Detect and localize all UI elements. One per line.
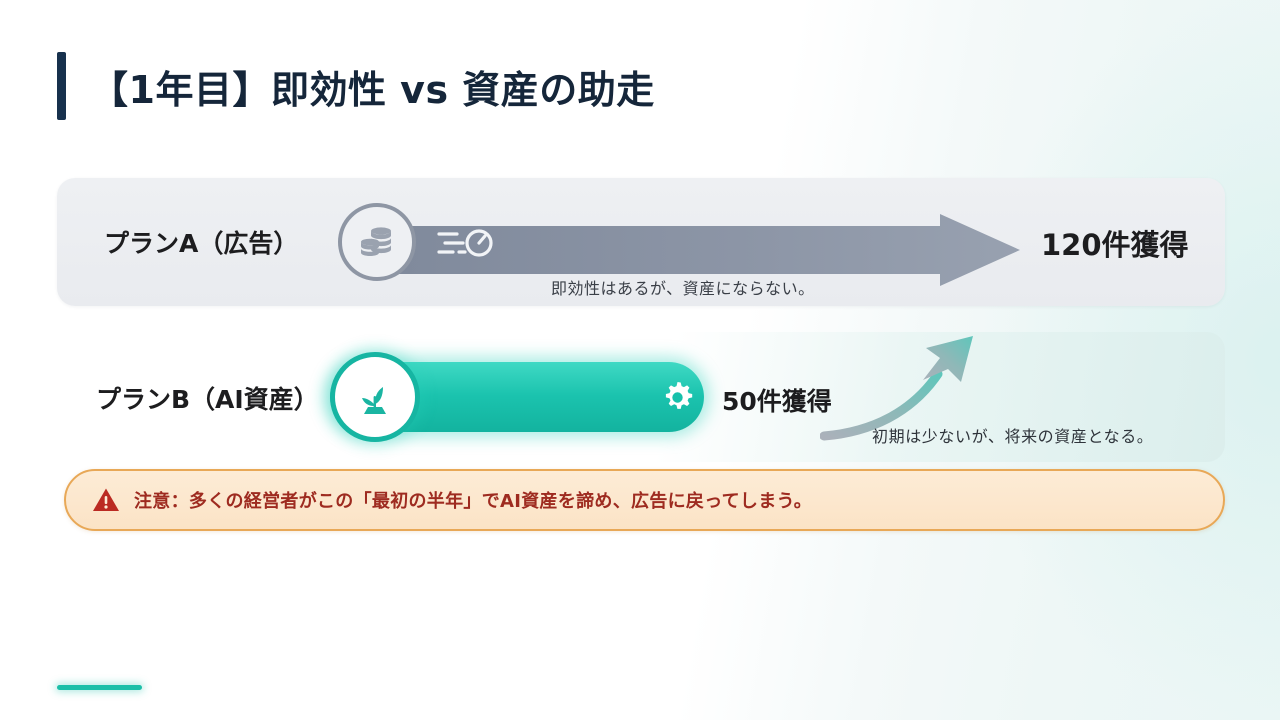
- coin-stack-icon: [338, 203, 416, 281]
- warning-text: 注意：多くの経営者がこの「最初の半年」でAI資産を諦め、広告に戻ってしまう。: [134, 487, 812, 513]
- plan-a-label: プランA（広告）: [104, 224, 298, 260]
- title-text: 【1年目】即効性 vs 資産の助走: [90, 59, 655, 114]
- plan-b-label: プランB（AI資産）: [96, 380, 319, 416]
- warning-triangle-icon: [92, 487, 120, 513]
- gear-icon: [659, 379, 696, 416]
- slide-canvas: 【1年目】即効性 vs 資産の助走 プランA（広告）: [0, 0, 1280, 720]
- warning-banner: 注意：多くの経営者がこの「最初の半年」でAI資産を諦め、広告に戻ってしまう。: [64, 469, 1225, 531]
- footer-accent-bar: [57, 685, 142, 690]
- plan-b-caption: 初期は少ないが、将来の資産となる。: [872, 423, 1153, 447]
- plan-b-result: 50件獲得: [722, 382, 832, 418]
- title-accent-bar: [57, 52, 66, 120]
- plan-a-caption: 即効性はあるが、資産にならない。: [551, 275, 815, 299]
- page-title: 【1年目】即効性 vs 資産の助走: [57, 52, 655, 120]
- sprout-icon: [330, 352, 420, 442]
- speed-gauge-icon: [437, 222, 497, 266]
- plan-a-result: 120件獲得: [1041, 222, 1189, 264]
